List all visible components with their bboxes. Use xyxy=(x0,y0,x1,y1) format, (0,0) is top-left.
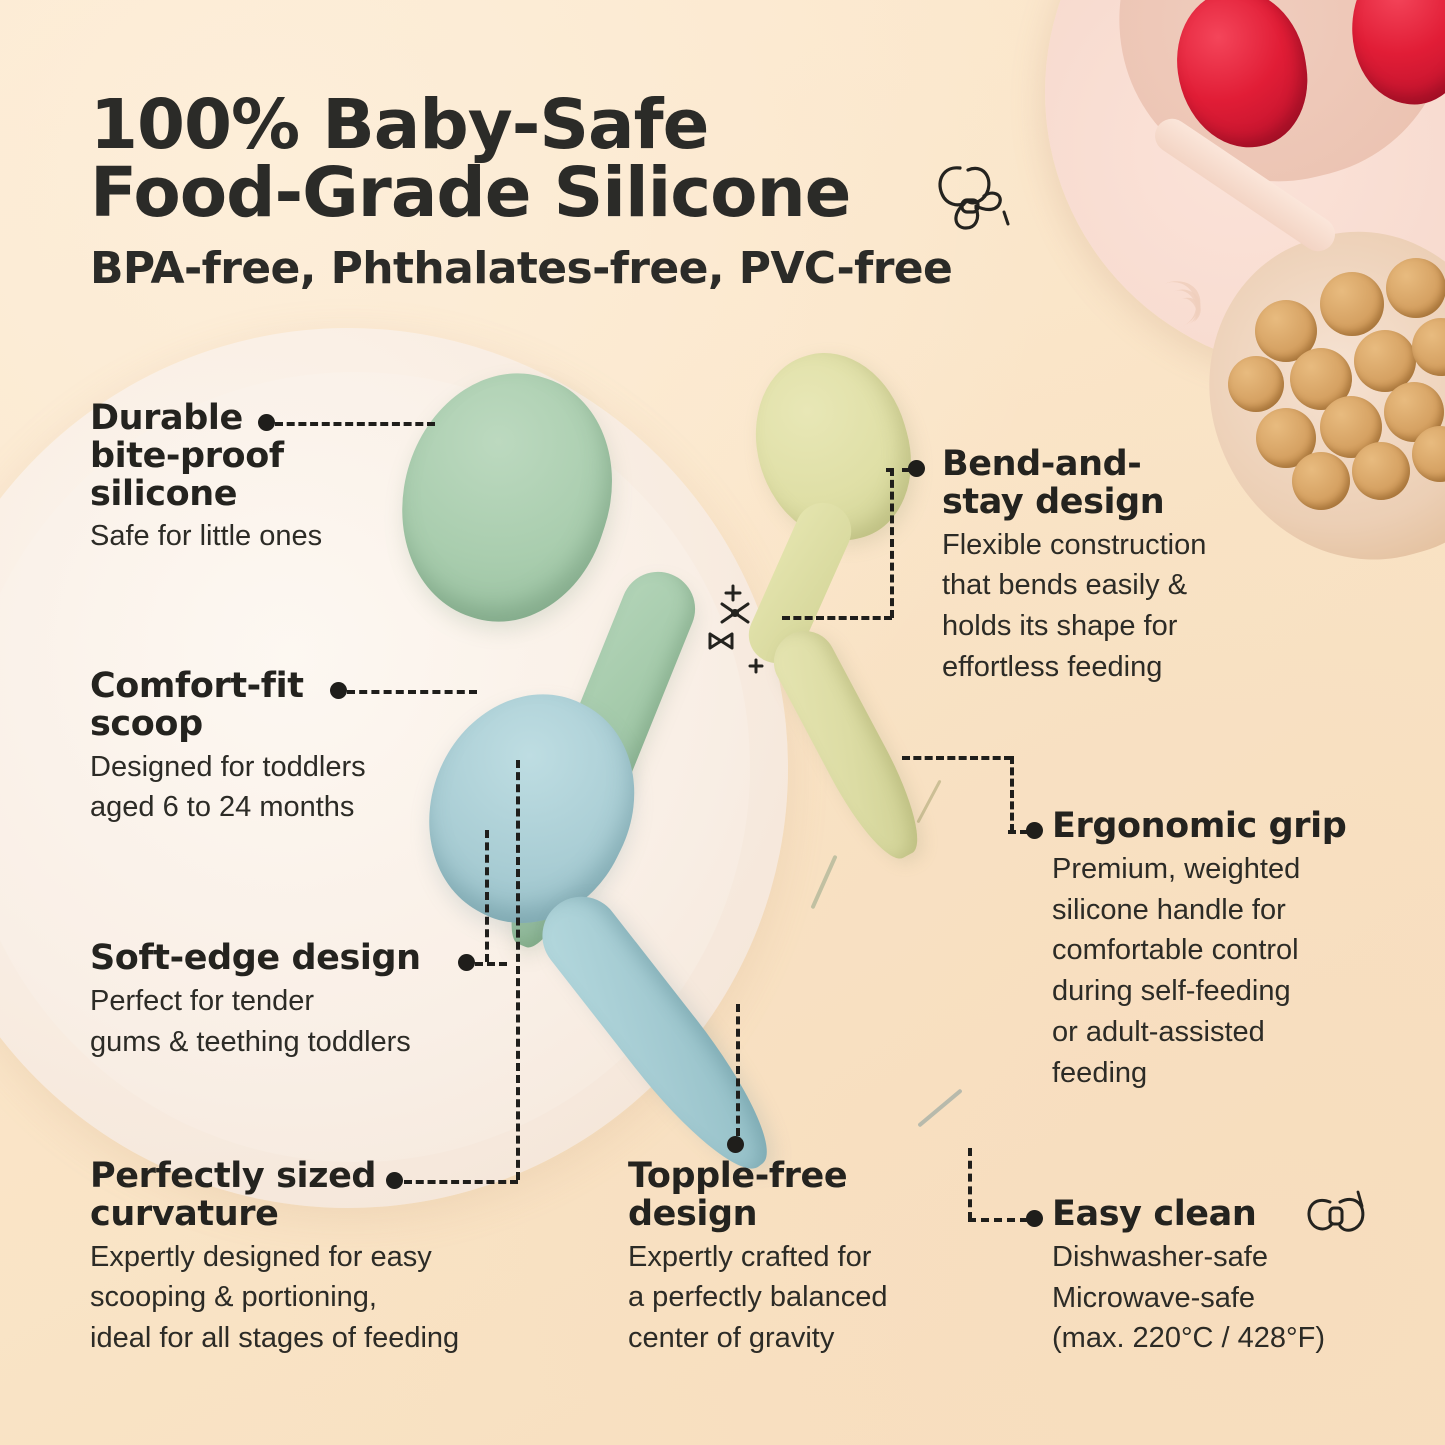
callout-body: comfortable control xyxy=(1052,933,1382,968)
callout-body: scooping & portioning, xyxy=(90,1280,570,1315)
callout-body: during self-feeding xyxy=(1052,974,1382,1009)
leader-dot xyxy=(908,460,925,477)
cereal-ball xyxy=(1320,272,1384,336)
callout-body: Perfect for tender xyxy=(90,984,510,1019)
callout-body: Premium, weighted xyxy=(1052,852,1382,887)
callout-body: Safe for little ones xyxy=(90,519,420,554)
leader-line xyxy=(1010,756,1014,832)
callout-body: Expertly crafted for xyxy=(628,1240,968,1275)
callout-body: that bends easily & xyxy=(942,568,1272,603)
callout-bend-and-stay-design: Bend-and- stay design Flexible construct… xyxy=(942,446,1272,685)
callout-title: Perfectly sized xyxy=(90,1158,570,1196)
callout-body: holds its shape for xyxy=(942,609,1272,644)
bow-icon xyxy=(1300,1188,1376,1258)
callout-body: effortless feeding xyxy=(942,650,1272,685)
callout-title: Soft-edge design xyxy=(90,940,510,978)
callout-body: or adult-assisted xyxy=(1052,1015,1382,1050)
callout-topple-free-design: Topple-free design Expertly crafted for … xyxy=(628,1158,968,1356)
callout-body: Microwave-safe xyxy=(1052,1281,1382,1316)
callout-title: silicone xyxy=(90,476,420,514)
callout-title: design xyxy=(628,1196,968,1234)
butterfly-icon xyxy=(930,158,1016,242)
callout-body: a perfectly balanced xyxy=(628,1280,968,1315)
leader-dot xyxy=(727,1136,744,1153)
callout-title: Durable xyxy=(90,400,420,438)
headline-block: 100% Baby-Safe Food-Grade Silicone BPA-f… xyxy=(90,92,1020,294)
cereal-ball xyxy=(1352,442,1410,500)
callout-perfectly-sized-curvature: Perfectly sized curvature Expertly desig… xyxy=(90,1158,570,1356)
callout-body: gums & teething toddlers xyxy=(90,1025,510,1060)
callout-body: Expertly designed for easy xyxy=(90,1240,570,1275)
callout-title: scoop xyxy=(90,706,450,744)
callout-ergonomic-grip: Ergonomic grip Premium, weighted silicon… xyxy=(1052,808,1382,1091)
callout-title: stay design xyxy=(942,484,1272,522)
leader-line xyxy=(968,1218,1028,1222)
leader-dot xyxy=(458,954,475,971)
cereal-ball xyxy=(1228,356,1284,412)
leader-line xyxy=(782,616,892,620)
leader-line xyxy=(516,760,520,1180)
callout-title: Bend-and- xyxy=(942,446,1272,484)
callout-soft-edge-design: Soft-edge design Perfect for tender gums… xyxy=(90,940,510,1059)
headline-line-2: Food-Grade Silicone xyxy=(90,160,1020,228)
headline-line-1: 100% Baby-Safe xyxy=(90,92,1020,160)
infographic-canvas: 100% Baby-Safe Food-Grade Silicone BPA-f… xyxy=(0,0,1445,1445)
callout-body-temperature: (max. 220°C / 428°F) xyxy=(1052,1321,1382,1356)
callout-title: Topple-free xyxy=(628,1158,968,1196)
leader-line xyxy=(485,830,489,962)
headline-subtitle: BPA-free, Phthalates-free, PVC-free xyxy=(90,243,1020,294)
callout-body: feeding xyxy=(1052,1056,1382,1091)
cereal-ball xyxy=(1386,258,1445,318)
leader-line xyxy=(475,962,507,966)
leader-line xyxy=(736,1004,740,1136)
callout-title: bite-proof xyxy=(90,438,420,476)
leader-dot xyxy=(330,682,347,699)
leader-dot xyxy=(1026,822,1043,839)
callout-body: Flexible construction xyxy=(942,528,1272,563)
callout-body: ideal for all stages of feeding xyxy=(90,1321,570,1356)
leader-line xyxy=(275,422,435,426)
callout-body: aged 6 to 24 months xyxy=(90,790,450,825)
leader-line xyxy=(347,690,477,694)
leader-line xyxy=(968,1148,972,1220)
leader-dot xyxy=(258,414,275,431)
leader-line xyxy=(902,756,1012,760)
callout-body: silicone handle for xyxy=(1052,893,1382,928)
callout-title: Ergonomic grip xyxy=(1052,808,1382,846)
callout-body: Designed for toddlers xyxy=(90,750,450,785)
sparkle-icon xyxy=(700,560,800,680)
leader-line xyxy=(890,468,894,618)
callout-title: Comfort-fit xyxy=(90,668,450,706)
callout-title: curvature xyxy=(90,1196,570,1234)
callout-body: center of gravity xyxy=(628,1321,968,1356)
leader-dot xyxy=(386,1172,403,1189)
cereal-ball xyxy=(1292,452,1350,510)
leader-dot xyxy=(1026,1210,1043,1227)
